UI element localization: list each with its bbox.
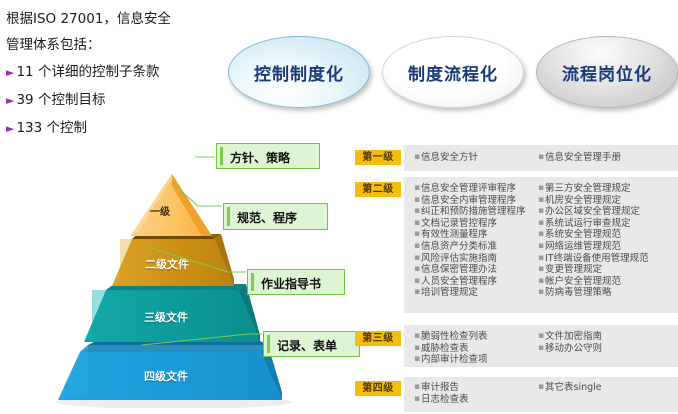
panel-list-item: ▪日志检查表	[414, 394, 469, 406]
panel-group1-right-list: ▪信息安全管理手册	[538, 152, 621, 164]
panel-list-item-label: 变更管理规定	[545, 264, 602, 276]
callout-label: 作业指导书	[261, 275, 321, 292]
panel-list-item-label: 防病毒管理策略	[545, 287, 612, 299]
square-bullet-icon: ▪	[538, 287, 545, 299]
panel-list-item: ▪信息保密管理办法	[414, 264, 526, 276]
panel-group4-left-list: ▪审计报告▪日志检查表	[414, 382, 469, 405]
triangle-bullet-icon: ►	[6, 123, 14, 134]
panel-list-item: ▪威胁检查表	[414, 343, 488, 355]
square-bullet-icon: ▪	[538, 343, 545, 355]
intro-bullet-item: ► 39 个控制目标	[6, 86, 226, 114]
intro-bullet-label: 133 个控制	[16, 114, 87, 142]
panel-list-item-label: 移动办公守则	[545, 343, 602, 355]
panel-list-item: ▪第三方安全管理规定	[538, 183, 649, 195]
square-bullet-icon: ▪	[538, 253, 545, 265]
panel-list-item: ▪网络运维管理规范	[538, 241, 649, 253]
panel-list-item-label: 文档记录管控程序	[421, 218, 497, 230]
square-bullet-icon: ▪	[414, 287, 421, 299]
panel-group4-right-list: ▪其它表single	[538, 382, 602, 394]
panel-group1-left-list: ▪信息安全方针	[414, 152, 478, 164]
panel-list-item-label: 办公区域安全管理规定	[545, 206, 640, 218]
square-bullet-icon: ▪	[538, 241, 545, 253]
panel-list-item-label: 帐户安全管理规范	[545, 276, 621, 288]
oval-shape-process-positionization: 流程岗位化	[536, 36, 678, 108]
square-bullet-icon: ▪	[538, 206, 545, 218]
panel-list-item-label: 第三方安全管理规定	[545, 183, 631, 195]
square-bullet-icon: ▪	[414, 241, 421, 253]
panel-list-item-label: 日志检查表	[421, 394, 469, 406]
intro-bullet-label: 11 个详细的控制子条款	[16, 58, 159, 86]
panel-list-item-label: 系统试运行审查规定	[545, 218, 631, 230]
panel-list-item-label: 培训管理规定	[421, 287, 478, 299]
square-bullet-icon: ▪	[538, 276, 545, 288]
panel-list-item: ▪移动办公守则	[538, 343, 602, 355]
panel-list-item-label: 审计报告	[421, 382, 459, 394]
callout-accent-bar	[227, 207, 230, 226]
panel-list-item-label: 人员安全管理程序	[421, 276, 497, 288]
square-bullet-icon: ▪	[414, 394, 421, 406]
panel-list-item-label: 威胁检查表	[421, 343, 469, 355]
panel-list-item-label: 信息安全方针	[421, 152, 478, 164]
callout-box-standard: 规范、程序	[223, 203, 328, 230]
panel-group3-right-list: ▪文件加密指南▪移动办公守则	[538, 331, 602, 354]
panel-list-item: ▪系统试运行审查规定	[538, 218, 649, 230]
square-bullet-icon: ▪	[538, 264, 545, 276]
panel-list-item-label: 信息安全管理评审程序	[421, 183, 516, 195]
level-badge-1: 第一级	[355, 150, 401, 165]
square-bullet-icon: ▪	[414, 264, 421, 276]
panel-list-item: ▪信息安全方针	[414, 152, 478, 164]
panel-list-item: ▪帐户安全管理规范	[538, 276, 649, 288]
pyramid-level-label-1: 一级	[150, 203, 170, 218]
square-bullet-icon: ▪	[538, 229, 545, 241]
panel-list-item-label: 有效性测量程序	[421, 229, 488, 241]
panel-list-item-label: IT终端设备使用管理规范	[545, 253, 649, 265]
square-bullet-icon: ▪	[414, 206, 421, 218]
oval-shape-system-processization: 制度流程化	[382, 36, 524, 108]
intro-bullet-item: ► 11 个详细的控制子条款	[6, 58, 226, 86]
oval-label: 控制制度化	[254, 60, 344, 85]
panel-list-item-label: 纠正和预防措施管理程序	[421, 206, 526, 218]
panel-list-item: ▪信息安全管理手册	[538, 152, 621, 164]
panel-list-item: ▪内部审计检查项	[414, 354, 488, 366]
panel-list-item-label: 其它表single	[545, 382, 602, 394]
panel-list-item-label: 机房安全管理规定	[545, 195, 621, 207]
callout-label: 记录、表单	[277, 337, 337, 354]
square-bullet-icon: ▪	[538, 218, 545, 230]
level-badge-3: 第三级	[355, 331, 401, 346]
panel-list-item: ▪纠正和预防措施管理程序	[414, 206, 526, 218]
square-bullet-icon: ▪	[414, 253, 421, 265]
panel-list-item: ▪风险评估实施指南	[414, 253, 526, 265]
panel-list-item: ▪变更管理规定	[538, 264, 649, 276]
panel-list-item: ▪信息资产分类标准	[414, 241, 526, 253]
square-bullet-icon: ▪	[414, 331, 421, 343]
square-bullet-icon: ▪	[414, 382, 421, 394]
square-bullet-icon: ▪	[414, 183, 421, 195]
panel-list-item: ▪文档记录管控程序	[414, 218, 526, 230]
oval-label: 制度流程化	[408, 60, 498, 85]
square-bullet-icon: ▪	[414, 218, 421, 230]
triangle-bullet-icon: ►	[6, 67, 14, 78]
square-bullet-icon: ▪	[538, 152, 545, 164]
panel-list-item-label: 系统安全管理规范	[545, 229, 621, 241]
panel-list-item: ▪信息安全管理评审程序	[414, 183, 526, 195]
panel-list-item: ▪信息安全内审管理程序	[414, 195, 526, 207]
intro-bullet-label: 39 个控制目标	[16, 86, 105, 114]
panel-list-item: ▪培训管理规定	[414, 287, 526, 299]
panel-list-item: ▪文件加密指南	[538, 331, 602, 343]
intro-line: 根据ISO 27001，信息安全	[6, 6, 226, 32]
panel-group2-left-list: ▪信息安全管理评审程序▪信息安全内审管理程序▪纠正和预防措施管理程序▪文档记录管…	[414, 183, 526, 299]
level-badge-2: 第二级	[355, 182, 401, 197]
square-bullet-icon: ▪	[538, 195, 545, 207]
panel-list-item-label: 网络运维管理规范	[545, 241, 621, 253]
square-bullet-icon: ▪	[414, 354, 421, 366]
panel-group2-right-list: ▪第三方安全管理规定▪机房安全管理规定▪办公区域安全管理规定▪系统试运行审查规定…	[538, 183, 649, 299]
callout-box-record-form: 记录、表单	[263, 331, 360, 357]
callout-label: 方针、策略	[230, 149, 290, 166]
panel-list-item: ▪IT终端设备使用管理规范	[538, 253, 649, 265]
panel-list-item: ▪人员安全管理程序	[414, 276, 526, 288]
panel-list-item: ▪办公区域安全管理规定	[538, 206, 649, 218]
callout-accent-bar	[267, 335, 270, 353]
square-bullet-icon: ▪	[414, 229, 421, 241]
callout-box-policy: 方针、策略	[216, 143, 320, 169]
pyramid-level-label-4: 四级文件	[144, 368, 188, 384]
square-bullet-icon: ▪	[538, 331, 545, 343]
panel-group3-left-list: ▪脆弱性检查列表▪威胁检查表▪内部审计检查项	[414, 331, 488, 366]
panel-list-item: ▪机房安全管理规定	[538, 195, 649, 207]
panel-list-item-label: 信息资产分类标准	[421, 241, 497, 253]
panel-list-item-label: 信息保密管理办法	[421, 264, 497, 276]
panel-list-item-label: 风险评估实施指南	[421, 253, 497, 265]
intro-bullet-item: ► 133 个控制	[6, 114, 226, 142]
square-bullet-icon: ▪	[538, 183, 545, 195]
panel-list-item: ▪有效性测量程序	[414, 229, 526, 241]
oval-label: 流程岗位化	[562, 60, 652, 85]
intro-line: 管理体系包括：	[6, 32, 226, 58]
callout-label: 规范、程序	[237, 209, 297, 226]
callout-accent-bar	[251, 273, 254, 291]
oval-shape-control-systemization: 控制制度化	[228, 36, 370, 108]
level-badge-4: 第四级	[355, 381, 401, 396]
square-bullet-icon: ▪	[538, 382, 545, 394]
panel-list-item: ▪防病毒管理策略	[538, 287, 649, 299]
pyramid-level-label-2: 二级文件	[145, 256, 189, 272]
pyramid-level-label-3: 三级文件	[144, 309, 188, 325]
callout-accent-bar	[220, 147, 223, 165]
triangle-bullet-icon: ►	[6, 95, 14, 106]
panel-list-item: ▪审计报告	[414, 382, 469, 394]
square-bullet-icon: ▪	[414, 276, 421, 288]
panel-list-item-label: 信息安全管理手册	[545, 152, 621, 164]
panel-list-item-label: 文件加密指南	[545, 331, 602, 343]
square-bullet-icon: ▪	[414, 195, 421, 207]
panel-list-item: ▪脆弱性检查列表	[414, 331, 488, 343]
intro-text-block: 根据ISO 27001，信息安全 管理体系包括： ► 11 个详细的控制子条款 …	[6, 6, 226, 142]
panel-list-item-label: 信息安全内审管理程序	[421, 195, 516, 207]
square-bullet-icon: ▪	[414, 343, 421, 355]
callout-box-work-instruction: 作业指导书	[247, 269, 345, 295]
panel-list-item: ▪系统安全管理规范	[538, 229, 649, 241]
square-bullet-icon: ▪	[414, 152, 421, 164]
slide-canvas: 根据ISO 27001，信息安全 管理体系包括： ► 11 个详细的控制子条款 …	[0, 0, 678, 414]
panel-list-item-label: 内部审计检查项	[421, 354, 488, 366]
panel-list-item: ▪其它表single	[538, 382, 602, 394]
panel-list-item-label: 脆弱性检查列表	[421, 331, 488, 343]
